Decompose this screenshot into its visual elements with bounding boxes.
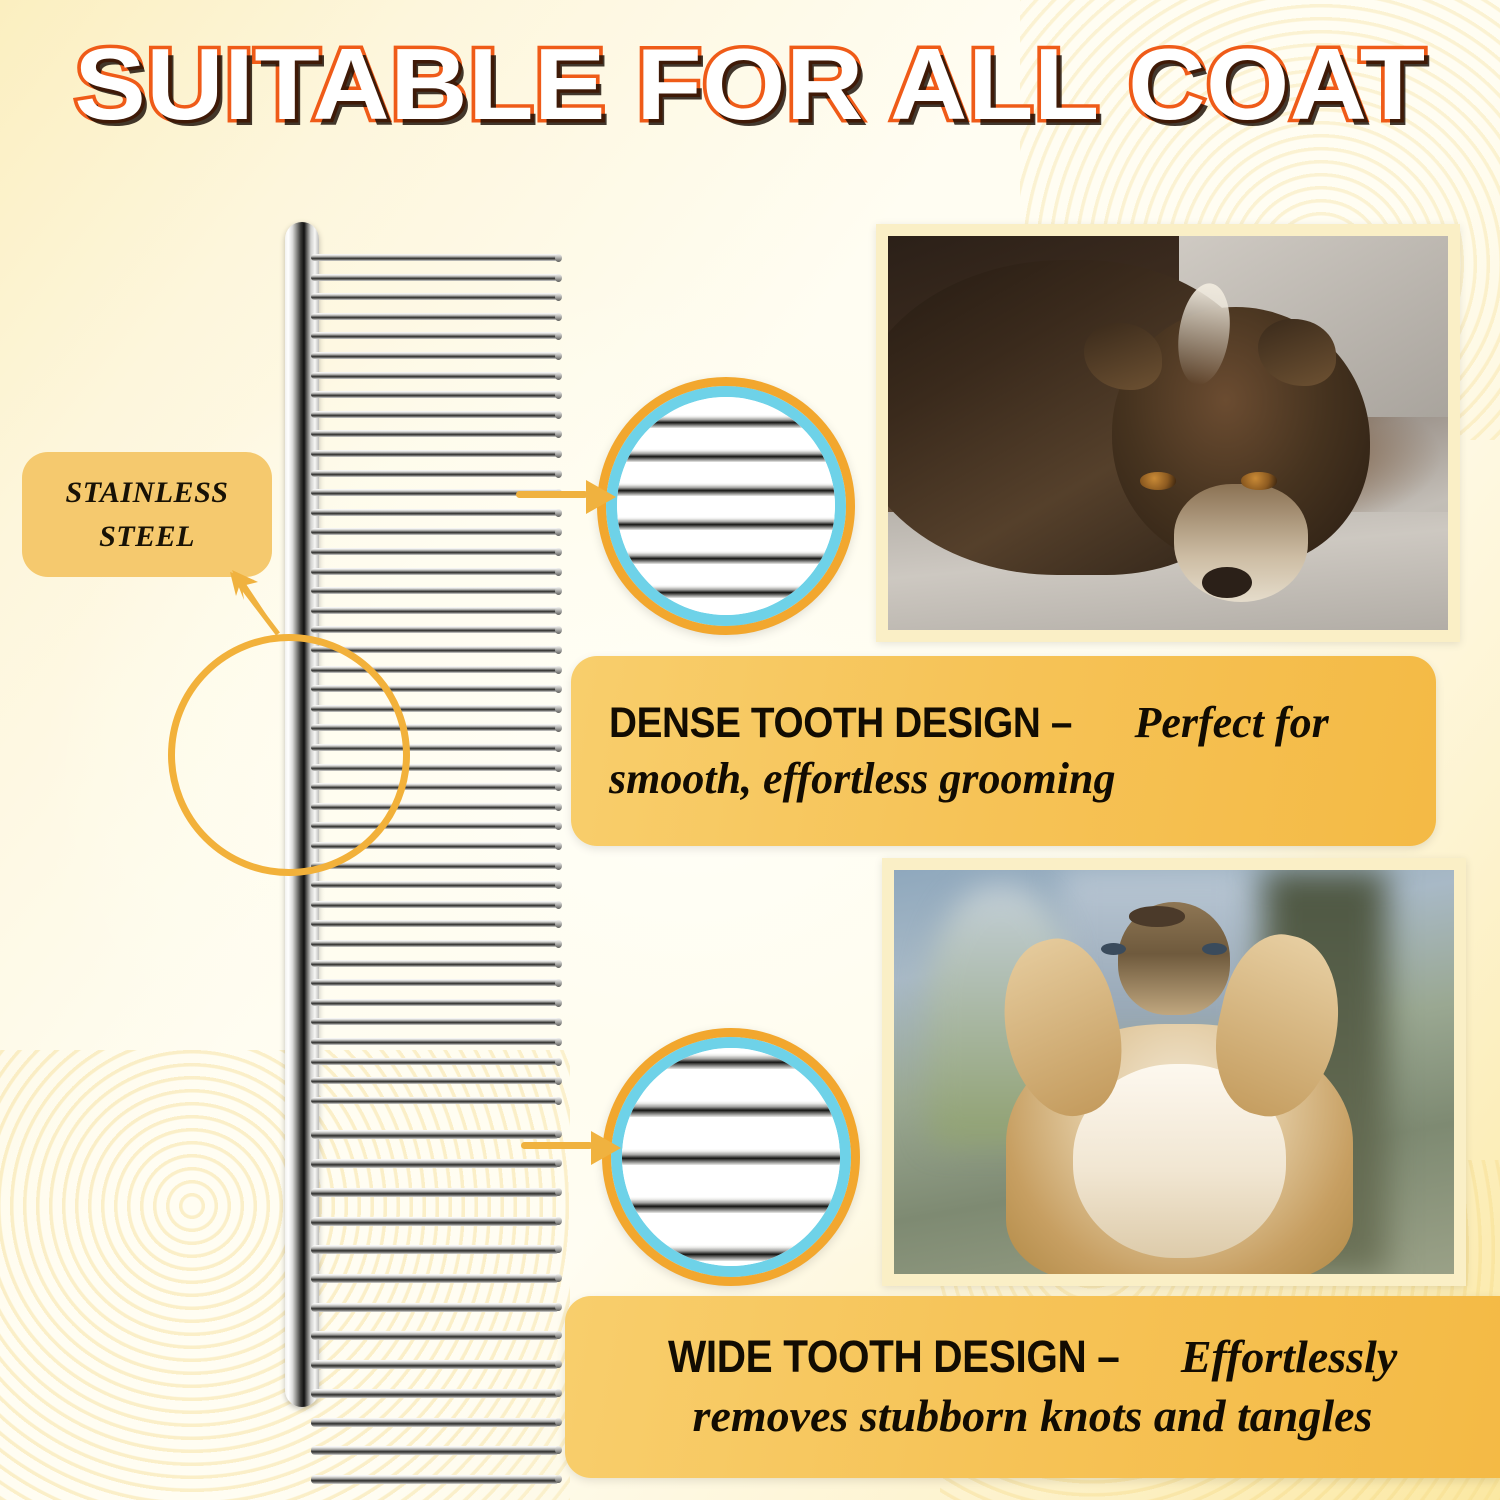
comb-tooth-dense (311, 626, 559, 633)
comb-tooth-dense (311, 313, 559, 320)
comb-tooth-dense (311, 254, 559, 261)
wide-arrow-head-icon (591, 1131, 621, 1165)
comb-tooth-dense (311, 332, 559, 339)
comb-tooth-dense (311, 391, 559, 398)
comb-tooth-wide (311, 1274, 559, 1283)
dense-arrow-line (516, 491, 588, 498)
comb-tooth-dense (311, 960, 559, 967)
page-title: SUITABLE FOR ALL COAT (0, 28, 1500, 143)
badge-line-2: STEEL (99, 520, 195, 553)
comb-tooth-wide (311, 1446, 559, 1455)
comb-tooth-dense (311, 1038, 559, 1045)
photo-dog-resting (876, 224, 1460, 642)
comb-tooth-dense (311, 1077, 559, 1084)
dog-eye-right (1241, 472, 1277, 489)
badge-text: STAINLESS STEEL (66, 471, 229, 558)
dog2-nose (1129, 906, 1185, 926)
magnified-dense-pin (617, 585, 835, 598)
feature-wide-title: WIDE TOOTH DESIGN – (668, 1328, 1119, 1386)
comb-tooth-dense (311, 862, 559, 869)
magnified-wide-pin (622, 1101, 840, 1117)
wide-tooth-pins (622, 1048, 840, 1266)
comb-tooth-dense (311, 568, 559, 575)
dense-tooth-closeup (597, 377, 855, 635)
dense-arrow-head-icon (586, 480, 616, 514)
magnified-dense-pin (617, 551, 835, 564)
comb-tooth-dense (311, 352, 559, 359)
comb-tooth-wide (311, 1188, 559, 1197)
comb-tooth-wide (311, 1418, 559, 1427)
comb-tooth-dense (311, 920, 559, 927)
comb-tooth-dense (311, 940, 559, 947)
comb-tooth-dense (311, 430, 559, 437)
comb-tooth-dense (311, 509, 559, 516)
comb-tooth-dense (311, 999, 559, 1006)
comb-tooth-dense (311, 1058, 559, 1065)
comb-tooth-dense (311, 1097, 559, 1104)
magnified-dense-pin (617, 483, 835, 496)
magnified-wide-pin (622, 1245, 840, 1261)
magnified-dense-pin (617, 517, 835, 530)
comb-tooth-dense (311, 548, 559, 555)
badge-pointer-arrow-icon (228, 566, 282, 638)
magnified-wide-pin (622, 1149, 840, 1165)
photo-dog-looking-up-image (894, 870, 1454, 1274)
magnified-dense-pin (617, 449, 835, 462)
photo-dog-looking-up (882, 858, 1466, 1286)
stainless-steel-spine-closeup (168, 634, 410, 876)
comb-tooth-dense (311, 901, 559, 908)
magnified-wide-pin (622, 1053, 840, 1069)
feature-caption-dense-text: DENSE TOOTH DESIGN – Perfect for smooth,… (571, 695, 1436, 808)
wide-arrow-line (521, 1142, 593, 1149)
comb-tooth-dense (311, 607, 559, 614)
comb-tooth-wide (311, 1331, 559, 1340)
wide-tooth-closeup (602, 1028, 860, 1286)
comb-tooth-wide (311, 1217, 559, 1226)
comb-tooth-wide (311, 1475, 559, 1484)
comb-tooth-wide (311, 1159, 559, 1168)
comb-tooth-dense (311, 372, 559, 379)
dense-tooth-pins (617, 397, 835, 615)
stainless-steel-badge: STAINLESS STEEL (22, 452, 272, 577)
comb-tooth-dense (311, 979, 559, 986)
comb-tooth-wide (311, 1130, 559, 1139)
magnified-wide-pin (622, 1197, 840, 1213)
badge-line-1: STAINLESS (66, 476, 229, 509)
feature-dense-title: DENSE TOOTH DESIGN – (609, 696, 1072, 751)
infographic-canvas: SUITABLE FOR ALL COAT STAINLESS STEEL (0, 0, 1500, 1500)
comb-tooth-dense (311, 881, 559, 888)
comb-tooth-wide (311, 1245, 559, 1254)
comb-tooth-dense (311, 450, 559, 457)
magnified-dense-pin (617, 415, 835, 428)
dog2-eye-left (1101, 943, 1126, 955)
comb-tooth-dense (311, 293, 559, 300)
dog-eye-left (1140, 472, 1176, 489)
feature-caption-dense: DENSE TOOTH DESIGN – Perfect for smooth,… (571, 656, 1436, 846)
photo-dog-resting-image (888, 236, 1448, 630)
feature-caption-wide-text: WIDE TOOTH DESIGN – Effortlessly removes… (565, 1328, 1500, 1446)
feature-caption-wide: WIDE TOOTH DESIGN – Effortlessly removes… (565, 1296, 1500, 1478)
comb-tooth-dense (311, 528, 559, 535)
comb-tooth-wide (311, 1360, 559, 1369)
comb-tooth-dense (311, 411, 559, 418)
comb-tooth-wide (311, 1389, 559, 1398)
comb-tooth-dense (311, 1018, 559, 1025)
comb-tooth-wide (311, 1303, 559, 1312)
comb-tooth-dense (311, 470, 559, 477)
dog2-eye-right (1202, 943, 1227, 955)
comb-tooth-dense (311, 587, 559, 594)
comb-tooth-dense (311, 274, 559, 281)
